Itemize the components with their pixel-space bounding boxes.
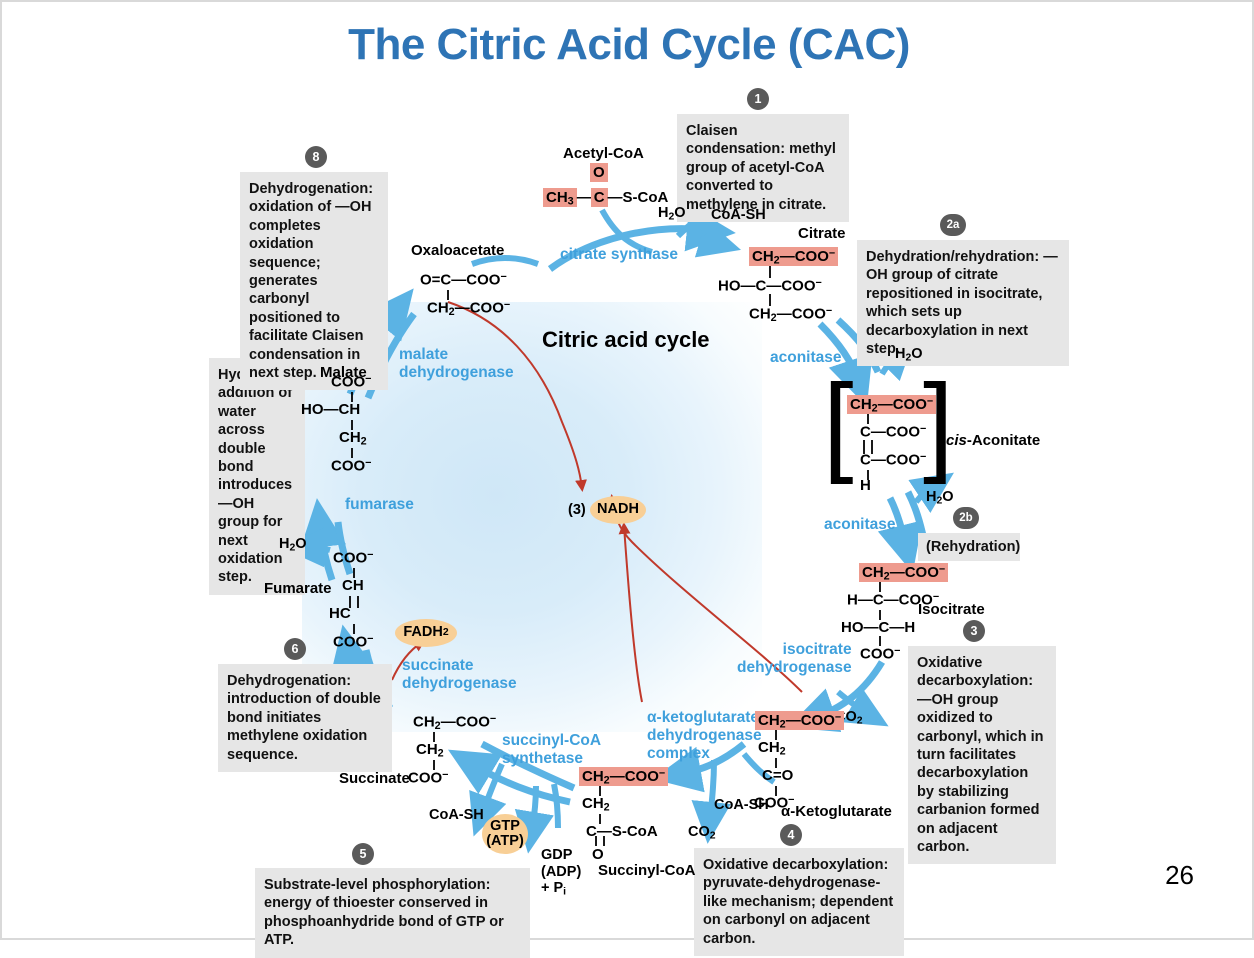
structure-succinylcoa-l3: C—S-CoA	[586, 824, 658, 839]
structure-malate-l3: CH2	[339, 430, 367, 447]
step-badge-2a: 2a	[940, 214, 966, 236]
fadh2-cofactor: FADH2	[395, 619, 457, 647]
structure-succinylcoa-l4: O	[592, 847, 604, 862]
structure-aconitate-l1: CH2—COO−	[847, 396, 936, 414]
step-badge-6: 6	[284, 638, 306, 660]
structure-isocitrate-l3: HO—C—H	[841, 620, 915, 635]
structure-citrate-top: CH2—COO−	[749, 248, 838, 266]
akg-complex-line2: dehydrogenase	[647, 727, 762, 745]
structure-citrate-mid: HO—C—COO−	[718, 278, 822, 294]
metabolite-citrate: Citrate	[798, 225, 846, 242]
metabolite-succinyl-coa: Succinyl-CoA	[598, 862, 696, 879]
structure-aconitate-l2: C—COO−	[860, 424, 926, 440]
metabolite-acetyl-coa: Acetyl-CoA	[563, 145, 644, 162]
structure-succinate-l1: CH2—COO−	[413, 714, 496, 732]
structure-malate-l1: COO−	[331, 374, 371, 390]
step-2a-text: —OH group of citrate repositioned in iso…	[866, 249, 1058, 357]
cycle-center-label: Citric acid cycle	[542, 327, 710, 353]
structure-oxaloacetate-l2: CH2—COO−	[427, 300, 510, 318]
metabolite-succinate: Succinate	[339, 770, 410, 787]
co2-2: CO2	[688, 824, 716, 842]
coash-3: CoA-SH	[429, 807, 484, 823]
step-1-title: Claisen condensation:	[686, 123, 785, 157]
step-badge-2b: 2b	[953, 507, 979, 529]
nadh-cofactor: NADH	[590, 496, 646, 524]
enzyme-succinyl-coa-synthetase: succinyl-CoA synthetase	[502, 732, 601, 768]
water-1: H2O	[658, 205, 686, 223]
sdh-line1: succinate	[402, 657, 517, 675]
step-box-6: Dehydrogenation: introduction of double …	[218, 664, 392, 772]
enzyme-succinate-dehydrogenase: succinate dehydrogenase	[402, 657, 517, 693]
step-5-title: Substrate-level phosphorylation:	[264, 877, 490, 893]
metabolite-oxaloacetate: Oxaloacetate	[411, 242, 504, 259]
step-box-1: Claisen condensation: methyl group of ac…	[677, 114, 849, 222]
gtp-label: GTP	[490, 819, 520, 834]
enzyme-citrate-synthase: citrate synthase	[560, 246, 678, 264]
structure-acetyl-coa-backbone: CH3—C—S-CoA	[543, 190, 668, 207]
step-box-8: Dehydrogenation: oxidation of —OH comple…	[240, 172, 388, 390]
structure-aconitate-l4: H	[860, 478, 871, 493]
mdh-line1: malate	[399, 346, 514, 364]
step-8-text: oxidation of —OH completes oxidation seq…	[249, 199, 371, 381]
page-number: 26	[1165, 860, 1194, 891]
structure-fumarate-l2: CH	[342, 578, 364, 593]
structure-akg-l4: COO−	[754, 795, 794, 811]
step-2b-title: (Rehydration)	[926, 539, 1020, 555]
metabolite-fumarate: Fumarate	[264, 580, 332, 597]
step-badge-5: 5	[352, 843, 374, 865]
structure-akg-l2: CH2	[758, 740, 786, 757]
structure-fumarate-l3: HC	[329, 606, 351, 621]
pi-label: + Pi	[541, 880, 581, 899]
step-6-text: introduction of double bond initiates me…	[227, 691, 381, 762]
structure-succinylcoa-l1: CH2—COO−	[579, 768, 668, 786]
sdh-line2: dehydrogenase	[402, 675, 517, 693]
step-box-2b: (Rehydration)	[918, 533, 1020, 561]
structure-succinylcoa-l2: CH2	[582, 796, 610, 813]
enzyme-malate-dehydrogenase: malate dehydrogenase	[399, 346, 514, 382]
akg-complex-line3: complex	[647, 745, 762, 763]
structure-succinate-l2: CH2	[416, 742, 444, 759]
enzyme-alpha-ketoglutarate-complex: α-ketoglutarate dehydrogenase complex	[647, 709, 762, 762]
enzyme-isocitrate-dehydrogenase: isocitrate dehydrogenase	[737, 641, 852, 677]
step-box-5: Substrate-level phosphorylation: energy …	[255, 868, 530, 958]
step-badge-4: 4	[780, 824, 802, 846]
step-badge-3: 3	[963, 620, 985, 642]
structure-fumarate-l1: COO−	[333, 550, 373, 566]
page-title: The Citric Acid Cycle (CAC)	[2, 20, 1254, 70]
structure-oxaloacetate-l1: O=C—COO−	[420, 272, 507, 288]
step-7-text: addition of water across double bond int…	[218, 385, 292, 585]
step-3-text: —OH group oxidized to carbonyl, which in…	[917, 692, 1044, 855]
adp-label: (ADP)	[541, 864, 581, 881]
enzyme-fumarase: fumarase	[345, 496, 414, 514]
structure-akg-l3: C=O	[762, 768, 793, 783]
structure-fumarate-l4: COO−	[333, 634, 373, 650]
structure-citrate-bottom: CH2—COO−	[749, 306, 832, 324]
step-3-title: Oxidative decarboxylation:	[917, 655, 1033, 689]
aconitate-rest: -Aconitate	[967, 432, 1040, 449]
atp-label: (ATP)	[486, 834, 524, 849]
gdp-label: GDP	[541, 847, 581, 864]
water-3: H2O	[926, 489, 954, 507]
gtp-cofactor: GTP (ATP)	[482, 814, 528, 854]
water-4: H2O	[279, 536, 307, 554]
step-6-title: Dehydrogenation:	[227, 673, 351, 689]
gdp-adp-pi: GDP (ADP) + Pi	[541, 847, 581, 899]
scs-line1: succinyl-CoA	[502, 732, 601, 750]
step-4-text: pyruvate-dehydrogenase-like mechanism; d…	[703, 875, 893, 946]
nadh-count: (3)	[568, 502, 586, 518]
structure-succinate-l3: COO−	[408, 770, 448, 786]
step-2a-title: Dehydration/rehydration:	[866, 249, 1039, 265]
step-4-title: Oxidative decarboxylation:	[703, 857, 888, 873]
enzyme-aconitase-2: aconitase	[824, 516, 896, 534]
water-2: H2O	[895, 346, 923, 364]
step-8-title: Dehydrogenation:	[249, 181, 373, 197]
coash-1: CoA-SH	[711, 207, 766, 223]
step-badge-1: 1	[747, 88, 769, 110]
akg-complex-line1: α-ketoglutarate	[647, 709, 762, 727]
structure-malate-l2: HO—CH	[301, 402, 360, 417]
structure-aconitate-l3: C—COO−	[860, 452, 926, 468]
structure-acetyl-coa-oxygen: O	[590, 165, 608, 180]
step-5-text: energy of thioester conserved in phospho…	[264, 895, 504, 948]
step-box-2a: Dehydration/rehydration: —OH group of ci…	[857, 240, 1069, 366]
structure-isocitrate-l1: CH2—COO−	[859, 564, 948, 582]
isocitrate-dh-line2: dehydrogenase	[737, 659, 852, 677]
structure-isocitrate-l4: COO−	[860, 646, 900, 662]
metabolite-alpha-ketoglutarate: α-Ketoglutarate	[781, 803, 892, 820]
structure-isocitrate-l2: H—C—COO−	[847, 592, 939, 608]
step-box-7: Hydration: addition of water across doub…	[209, 358, 305, 595]
structure-akg-l1: CH2—COO−	[755, 712, 844, 730]
isocitrate-dh-line1: isocitrate	[737, 641, 852, 659]
slide-canvas: The Citric Acid Cycle (CAC) 26	[0, 0, 1254, 940]
step-box-3: Oxidative decarboxylation: —OH group oxi…	[908, 646, 1056, 864]
scs-line2: synthetase	[502, 750, 601, 768]
fadh2-subscript: 2	[443, 628, 449, 639]
fadh2-label: FADH	[403, 625, 442, 640]
metabolite-cis-aconitate: cis-Aconitate	[946, 432, 1040, 449]
step-badge-8: 8	[305, 146, 327, 168]
structure-malate-l4: COO−	[331, 458, 371, 474]
mdh-line2: dehydrogenase	[399, 364, 514, 382]
